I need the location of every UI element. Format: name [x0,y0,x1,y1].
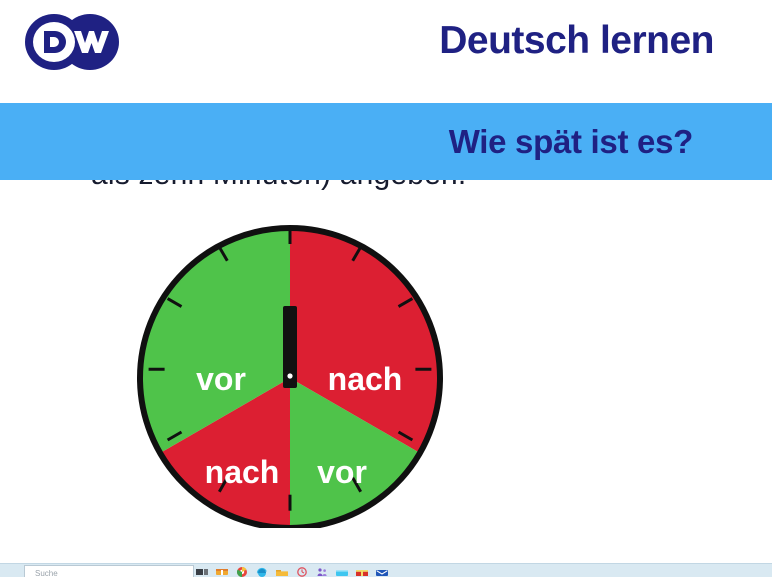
sector-label-vor-upper-left: vor [196,361,246,397]
dw-logo-svg [24,13,120,71]
chrome-icon[interactable] [236,564,248,577]
clock-center-dot [287,373,292,378]
display-icon[interactable] [336,564,348,577]
clock-diagram: vor nach nach vor © DW [20,218,566,528]
people-icon[interactable] [316,564,328,577]
gift-icon[interactable] [356,564,368,577]
slide-header: Deutsch lernen [0,0,772,103]
microsoft-store-icon[interactable] [216,564,228,577]
windows-taskbar: Suche [0,563,772,577]
edge-icon[interactable] [256,564,268,577]
clock-icon[interactable] [296,564,308,577]
file-explorer-icon[interactable] [276,564,288,577]
task-view-icon[interactable] [196,564,208,577]
section-banner: Wie spät ist es? [0,103,772,180]
sector-label-nach-lower-left: nach [205,454,280,490]
taskbar-icon-strip [196,564,388,577]
slide-page: Deutsch lernen als zehn Minuten) angeben… [0,0,772,577]
dw-logo [24,13,120,71]
sector-label-nach-upper-right: nach [328,361,403,397]
mail-icon[interactable] [376,564,388,577]
taskbar-search-box[interactable]: Suche [24,565,194,577]
banner-title: Wie spät ist es? [449,123,693,161]
taskbar-search-placeholder: Suche [35,569,58,577]
sector-label-vor-lower-right: vor [317,454,367,490]
clock-diagram-svg: vor nach nach vor [20,218,566,528]
page-title: Deutsch lernen [439,19,714,63]
